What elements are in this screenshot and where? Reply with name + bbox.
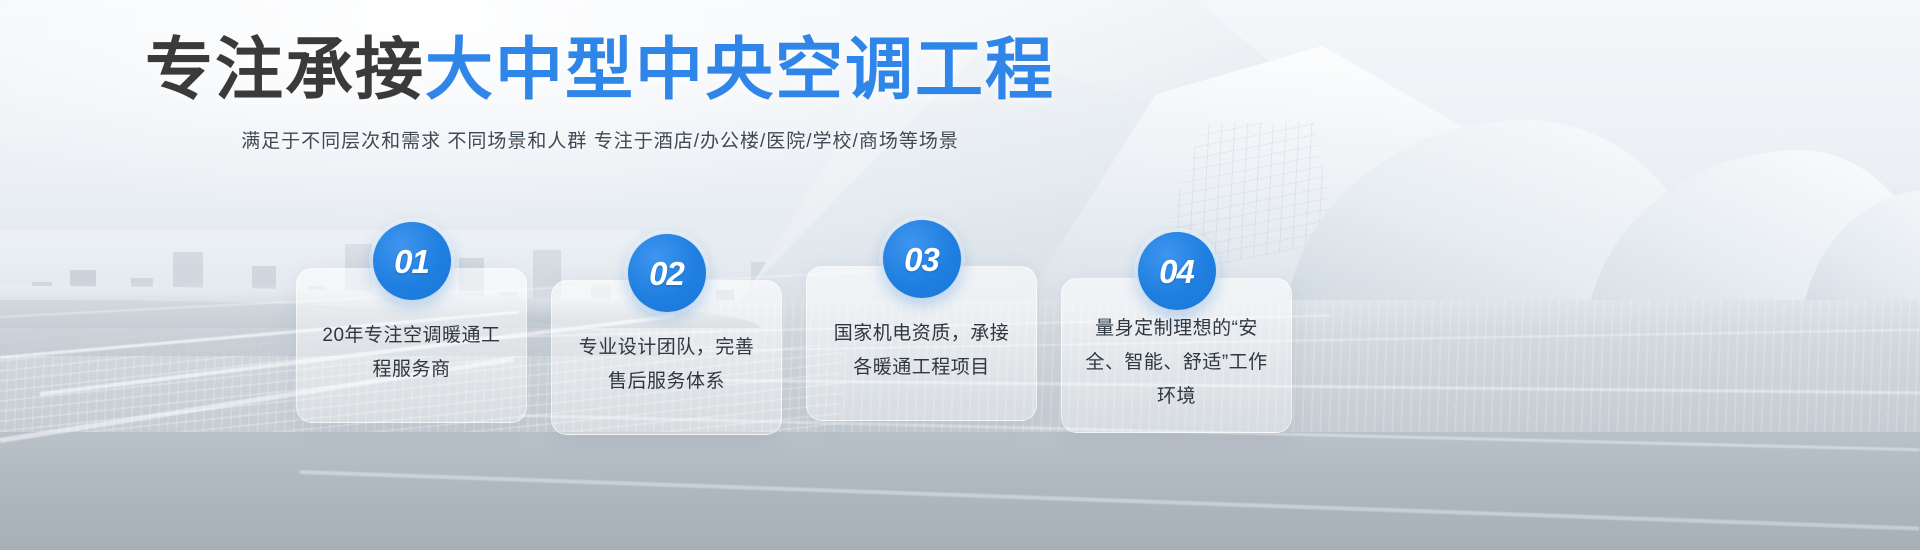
headline-block: 专注承接大中型中央空调工程 满足于不同层次和需求 不同场景和人群 专注于酒店/办… bbox=[0, 36, 1200, 153]
step-number-badge: 02 bbox=[628, 234, 706, 312]
page-subtitle: 满足于不同层次和需求 不同场景和人群 专注于酒店/办公楼/医院/学校/商场等场景 bbox=[0, 126, 1200, 153]
hero-banner: 专注承接大中型中央空调工程 满足于不同层次和需求 不同场景和人群 专注于酒店/办… bbox=[0, 0, 1920, 550]
feature-card[interactable]: 04 量身定制理想的“安全、智能、舒适”工作环境 bbox=[1061, 278, 1292, 433]
feature-card[interactable]: 01 20年专注空调暖通工程服务商 bbox=[296, 268, 527, 423]
feature-card-text: 专业设计团队，完善售后服务体系 bbox=[572, 331, 761, 399]
feature-card-text: 国家机电资质，承接各暖通工程项目 bbox=[827, 317, 1016, 385]
step-number-badge: 01 bbox=[373, 222, 451, 300]
headline-blue-text: 大中型中央空调工程 bbox=[425, 32, 1055, 108]
feature-card-list: 01 20年专注空调暖通工程服务商 02 专业设计团队，完善售后服务体系 03 … bbox=[296, 268, 1292, 423]
step-number-badge: 04 bbox=[1138, 232, 1216, 310]
step-number-label: 03 bbox=[904, 243, 939, 276]
feature-card-text: 20年专注空调暖通工程服务商 bbox=[317, 319, 506, 387]
step-number-label: 01 bbox=[394, 245, 429, 278]
step-number-badge: 03 bbox=[883, 220, 961, 298]
page-title: 专注承接大中型中央空调工程 bbox=[0, 36, 1200, 104]
feature-card-text: 量身定制理想的“安全、智能、舒适”工作环境 bbox=[1082, 312, 1271, 414]
highway-shoulder bbox=[0, 432, 1920, 550]
headline-dark-text: 专注承接 bbox=[145, 32, 425, 108]
feature-card[interactable]: 03 国家机电资质，承接各暖通工程项目 bbox=[806, 266, 1037, 421]
step-number-label: 04 bbox=[1159, 255, 1194, 288]
step-number-label: 02 bbox=[649, 257, 684, 290]
feature-card[interactable]: 02 专业设计团队，完善售后服务体系 bbox=[551, 280, 782, 435]
